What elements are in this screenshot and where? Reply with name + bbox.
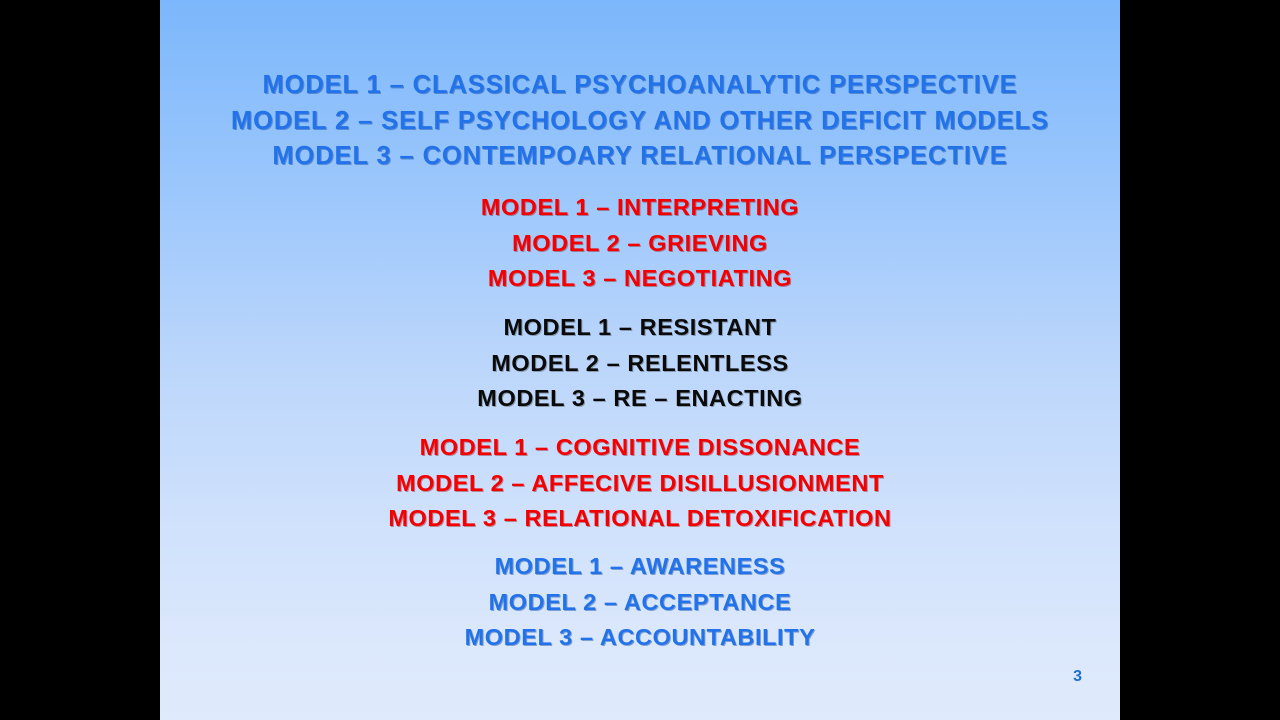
process-line-3: MODEL 3 – RELATIONAL DETOXIFICATION: [160, 501, 1120, 537]
text-block-models: MODEL 1 – CLASSICAL PSYCHOANALYTIC PERSP…: [160, 68, 1120, 175]
stance-line-3: MODEL 3 – RE – ENACTING: [160, 381, 1120, 417]
outcome-line-3: MODEL 3 – ACCOUNTABILITY: [160, 620, 1120, 656]
model-line-3: MODEL 3 – CONTEMPOARY RELATIONAL PERSPEC…: [160, 139, 1120, 175]
intervention-line-2: MODEL 2 – GRIEVING: [160, 226, 1120, 262]
model-line-1: MODEL 1 – CLASSICAL PSYCHOANALYTIC PERSP…: [160, 68, 1120, 104]
slide-number: 3: [1073, 668, 1082, 686]
letterbox-bar-right: [1120, 0, 1280, 720]
process-line-1: MODEL 1 – COGNITIVE DISSONANCE: [160, 430, 1120, 466]
stance-line-1: MODEL 1 – RESISTANT: [160, 310, 1120, 346]
text-block-outcomes: MODEL 1 – AWARENESS MODEL 2 – ACCEPTANCE…: [160, 549, 1120, 656]
stance-line-2: MODEL 2 – RELENTLESS: [160, 346, 1120, 382]
letterbox-bar-left: [0, 0, 160, 720]
process-line-2: MODEL 2 – AFFECIVE DISILLUSIONMENT: [160, 466, 1120, 502]
outcome-line-1: MODEL 1 – AWARENESS: [160, 549, 1120, 585]
text-block-stances: MODEL 1 – RESISTANT MODEL 2 – RELENTLESS…: [160, 310, 1120, 417]
intervention-line-3: MODEL 3 – NEGOTIATING: [160, 261, 1120, 297]
intervention-line-1: MODEL 1 – INTERPRETING: [160, 190, 1120, 226]
text-block-processes: MODEL 1 – COGNITIVE DISSONANCE MODEL 2 –…: [160, 430, 1120, 537]
outcome-line-2: MODEL 2 – ACCEPTANCE: [160, 585, 1120, 621]
model-line-2: MODEL 2 – SELF PSYCHOLOGY AND OTHER DEFI…: [160, 104, 1120, 140]
slide-canvas: MODEL 1 – CLASSICAL PSYCHOANALYTIC PERSP…: [160, 0, 1120, 720]
presentation-screen: MODEL 1 – CLASSICAL PSYCHOANALYTIC PERSP…: [0, 0, 1280, 720]
text-block-interventions: MODEL 1 – INTERPRETING MODEL 2 – GRIEVIN…: [160, 190, 1120, 297]
